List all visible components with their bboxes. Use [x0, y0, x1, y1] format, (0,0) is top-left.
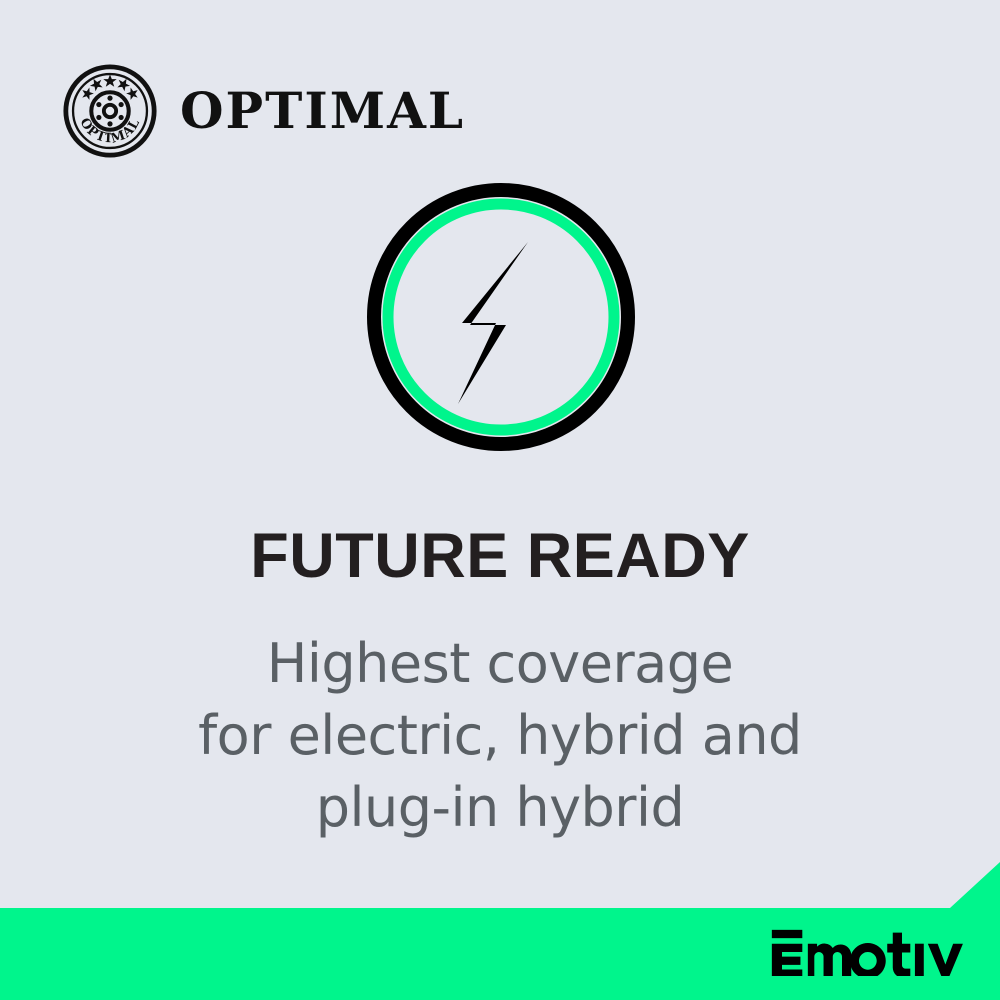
body-copy-line-2: for electric, hybrid and	[0, 700, 1000, 772]
emotive-wordmark-icon: Emotive	[770, 928, 966, 976]
optimal-roundel-icon: OPTIMAL	[62, 63, 158, 159]
brand-lockup: OPTIMAL OPTIMAL	[62, 63, 465, 159]
body-copy-line-1: Highest coverage	[0, 628, 1000, 700]
page-title: FUTURE READY	[0, 523, 1000, 589]
body-copy-line-3: plug-in hybrid	[0, 772, 1000, 844]
lightning-bolt-in-circle-icon	[366, 182, 636, 452]
poster-canvas: OPTIMAL OPTIMAL	[0, 0, 1000, 1000]
body-copy: Highest coverage for electric, hybrid an…	[0, 628, 1000, 843]
brand-wordmark: OPTIMAL	[180, 86, 465, 136]
